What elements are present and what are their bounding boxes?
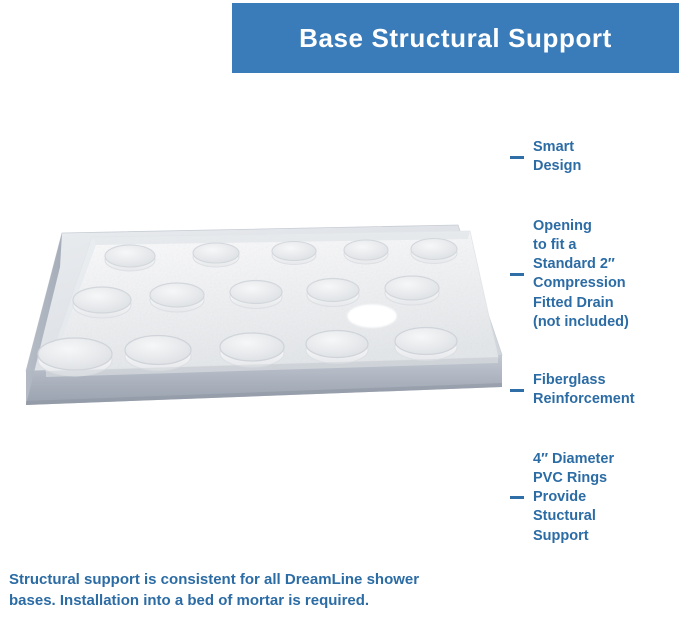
- pvc-ring: [411, 239, 457, 264]
- pvc-ring: [385, 276, 439, 305]
- shower-base-graphic: [0, 205, 512, 445]
- callout-smart-design: Smart Design: [510, 138, 581, 176]
- pvc-ring: [344, 240, 388, 264]
- title-banner: Base Structural Support: [232, 3, 679, 73]
- leader-dash-icon: [510, 496, 524, 499]
- callout-drain-opening: Opening to fit a Standard 2″ Compression…: [510, 217, 629, 332]
- pvc-ring: [220, 333, 284, 367]
- callout-drain-opening-label: Opening to fit a Standard 2″ Compression…: [533, 217, 629, 332]
- callout-pvc-rings-label: 4″ Diameter PVC Rings Provide Stuctural …: [533, 450, 614, 546]
- bottom-caption: Structural support is consistent for all…: [9, 570, 469, 611]
- pvc-ring: [230, 281, 282, 309]
- pvc-ring: [125, 336, 191, 371]
- leader-dash-icon: [510, 389, 524, 392]
- pvc-ring: [73, 287, 131, 318]
- callout-fiberglass-reinforcement: Fiberglass Reinforcement: [510, 371, 635, 409]
- callout-pvc-rings: 4″ Diameter PVC Rings Provide Stuctural …: [510, 450, 614, 546]
- pvc-ring: [150, 283, 204, 312]
- pvc-ring: [306, 331, 368, 364]
- pvc-ring: [395, 328, 457, 361]
- pvc-ring: [193, 243, 239, 267]
- callout-fiberglass-label: Fiberglass Reinforcement: [533, 371, 635, 409]
- callout-smart-design-label: Smart Design: [533, 138, 581, 176]
- leader-dash-icon: [510, 156, 524, 159]
- pvc-ring: [105, 245, 155, 271]
- product-illustration: [0, 205, 512, 445]
- pvc-ring: [272, 242, 316, 265]
- page-title: Base Structural Support: [299, 23, 612, 54]
- drain-opening: [347, 304, 397, 328]
- leader-dash-icon: [510, 273, 524, 276]
- pvc-ring: [307, 279, 359, 307]
